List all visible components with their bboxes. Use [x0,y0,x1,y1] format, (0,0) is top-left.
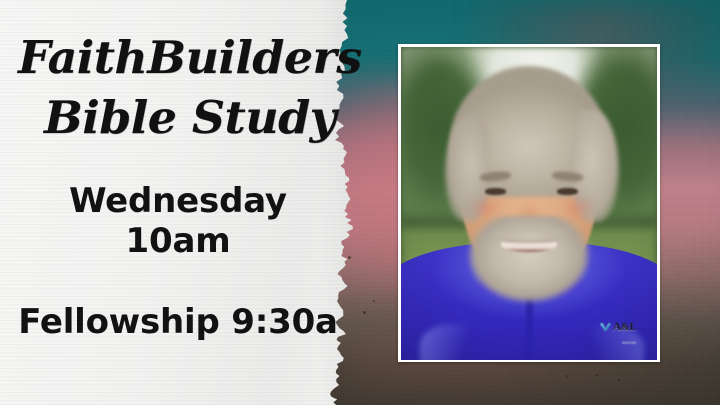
background-speck [566,375,568,377]
event-time: 10am [0,222,356,260]
paper-text-layer: FaithBuilders Bible Study Wednesday 10am… [0,0,366,405]
photo-edge-shading [401,47,657,360]
event-title-line-2: Bible Study [44,93,336,143]
background-speck [596,374,598,376]
speaker-photo: A&L MARINE [401,47,657,360]
speaker-photo-frame: A&L MARINE [398,44,660,362]
background-speck [618,379,620,381]
event-day: Wednesday [0,182,356,220]
announcement-slide: A&L MARINE FaithBuilders Bible Study Wed… [0,0,720,405]
event-fellowship-time: Fellowship 9:30a [0,303,356,341]
event-title-line-1: FaithBuilders [18,33,362,83]
background-speck [373,300,375,302]
